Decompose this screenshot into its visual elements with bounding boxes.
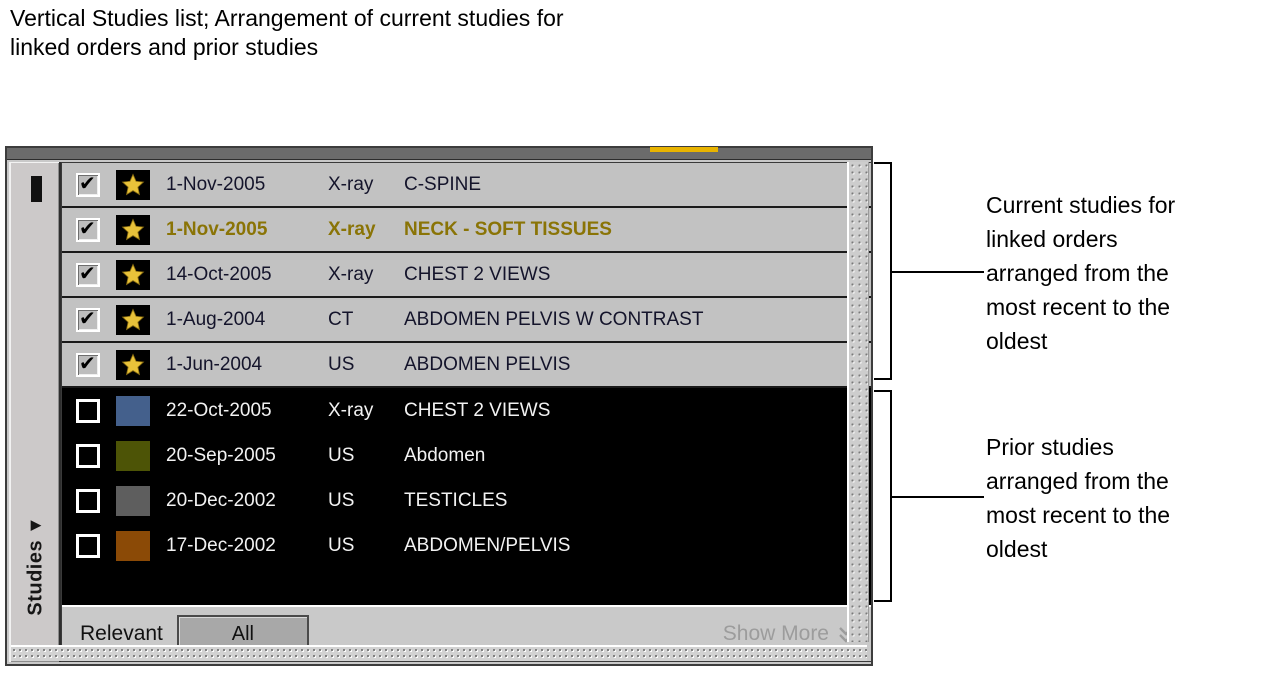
cell-date: 1-Jun-2004 [166,354,328,376]
table-row[interactable]: 22-Oct-2005X-rayCHEST 2 VIEWS [62,388,871,433]
star-icon [116,260,150,290]
table-row[interactable]: 1-Nov-2005X-rayNECK - SOFT TISSUES [62,208,871,253]
checkbox-checked[interactable] [76,173,100,197]
cell-date: 1-Aug-2004 [166,309,328,331]
cell-modality: US [328,490,404,512]
cell-date: 20-Dec-2002 [166,490,328,512]
cell-modality: US [328,354,404,376]
panel-top-strip [7,148,871,160]
checkbox-checked[interactable] [76,353,100,377]
checkbox-unchecked[interactable] [76,399,100,423]
cell-modality: CT [328,309,404,331]
cell-description: CHEST 2 VIEWS [404,400,871,422]
cell-description: ABDOMEN/PELVIS [404,535,871,557]
cell-description: ABDOMEN PELVIS [404,354,871,376]
cell-date: 1-Nov-2005 [166,219,328,241]
cell-modality: X-ray [328,219,404,241]
checkbox-checked[interactable] [76,263,100,287]
cell-date: 17-Dec-2002 [166,535,328,557]
rail-indicator-icon [31,176,42,202]
active-study-marker [650,147,718,152]
cell-modality: X-ray [328,400,404,422]
checkbox-checked[interactable] [76,308,100,332]
cell-description: C-SPINE [404,174,871,196]
panel-body: Studies ▶ 1-Nov-2005X-rayC-SPINE1-Nov-20… [7,160,871,664]
table-row[interactable]: 20-Sep-2005USAbdomen [62,433,871,478]
show-more-button[interactable]: Show More [723,622,855,646]
cell-description: CHEST 2 VIEWS [404,264,871,286]
cell-description: NECK - SOFT TISSUES [404,219,871,241]
color-swatch-icon [116,531,150,561]
horizontal-resize-gripper[interactable] [11,645,867,661]
cell-modality: X-ray [328,174,404,196]
screenshot-root: Vertical Studies list; Arrangement of cu… [0,0,1283,679]
checkbox-checked[interactable] [76,218,100,242]
star-icon [116,215,150,245]
studies-tab-label: Studies [25,539,48,615]
cell-description: TESTICLES [404,490,871,512]
cell-modality: X-ray [328,264,404,286]
studies-panel: Studies ▶ 1-Nov-2005X-rayC-SPINE1-Nov-20… [5,146,873,666]
star-icon [116,350,150,380]
table-row[interactable]: 20-Dec-2002USTESTICLES [62,478,871,523]
cell-description: ABDOMEN PELVIS W CONTRAST [404,309,871,331]
checkbox-unchecked[interactable] [76,489,100,513]
expand-triangle-icon[interactable]: ▶ [31,518,42,531]
cell-modality: US [328,535,404,557]
prior-studies-note: Prior studies arranged from the most rec… [986,430,1283,566]
table-row[interactable]: 1-Jun-2004USABDOMEN PELVIS [62,343,871,388]
table-row[interactable]: 1-Aug-2004CTABDOMEN PELVIS W CONTRAST [62,298,871,343]
rail-label-wrap: Studies ▶ [10,482,62,652]
current-studies-note: Current studies for linked orders arrang… [986,188,1283,358]
star-icon [116,305,150,335]
table-row[interactable]: 14-Oct-2005X-rayCHEST 2 VIEWS [62,253,871,298]
show-more-label: Show More [723,622,829,646]
cell-date: 22-Oct-2005 [166,400,328,422]
checkbox-unchecked[interactable] [76,444,100,468]
color-swatch-icon [116,486,150,516]
color-swatch-icon [116,441,150,471]
cell-modality: US [328,445,404,467]
relevant-label: Relevant [80,622,163,646]
cell-date: 20-Sep-2005 [166,445,328,467]
checkbox-unchecked[interactable] [76,534,100,558]
vertical-resize-gripper[interactable] [847,162,869,642]
cell-date: 1-Nov-2005 [166,174,328,196]
cell-description: Abdomen [404,445,871,467]
studies-tab-rail[interactable]: Studies ▶ [9,162,61,662]
table-row[interactable]: 17-Dec-2002USABDOMEN/PELVIS [62,523,871,568]
table-row[interactable]: 1-Nov-2005X-rayC-SPINE [62,163,871,208]
star-icon [116,170,150,200]
cell-date: 14-Oct-2005 [166,264,328,286]
studies-list-column: 1-Nov-2005X-rayC-SPINE1-Nov-2005X-rayNEC… [61,162,871,662]
studies-tab-label-group: Studies ▶ [25,519,48,615]
figure-caption: Vertical Studies list; Arrangement of cu… [10,4,860,62]
color-swatch-icon [116,396,150,426]
studies-list[interactable]: 1-Nov-2005X-rayC-SPINE1-Nov-2005X-rayNEC… [62,163,871,605]
